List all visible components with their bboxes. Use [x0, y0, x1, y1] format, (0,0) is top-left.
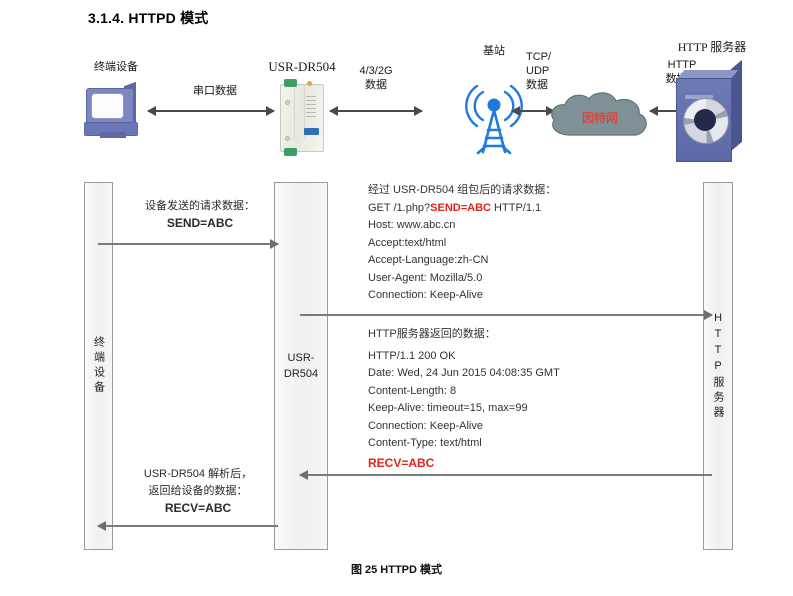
arrow-device-to-dr504: [98, 238, 278, 250]
lifeline-usr-dr504: USR- DR504: [274, 182, 328, 550]
node-label-base-station: 基站: [464, 44, 524, 58]
arrow-serial: [148, 104, 274, 118]
label-recv-abc-server: RECV=ABC: [368, 456, 434, 470]
lifeline-dr504-label: USR- DR504: [284, 350, 318, 382]
link-label-tcp-udp: TCP/ UDP 数据: [526, 50, 572, 92]
link-label-serial: 串口数据: [180, 84, 250, 98]
note-http-request: 经过 USR-DR504 组包后的请求数据： GET /1.php?SEND=A…: [368, 182, 698, 305]
lifeline-terminal-label: 终端设备: [92, 336, 104, 396]
node-label-http-server: HTTP 服务器: [664, 40, 760, 54]
arrow-server-to-dr504: [300, 469, 712, 481]
note-device-request: 设备发送的请求数据： SEND=ABC: [122, 198, 278, 232]
sequence-diagram: 终端设备 USR- DR504 HTTP服务器 设备发送的请求数据： SEND=…: [60, 180, 770, 552]
http-request-line: GET /1.php?SEND=ABC HTTP/1.1: [368, 200, 698, 218]
network-topology-diagram: 终端设备 串口数据 USR-DR504 4/3/2G: [60, 42, 770, 177]
cloud-label: 因特网: [546, 88, 654, 146]
page-root: 3.1.4. HTTPD 模式 终端设备 串口数据 USR-DR504: [0, 0, 793, 596]
arrow-dr504-to-server: [300, 309, 712, 321]
server-icon: [676, 70, 746, 162]
arrow-dr504-to-device: [98, 520, 278, 532]
cloud-icon: 因特网: [546, 88, 654, 146]
pc-icon: [86, 88, 142, 138]
node-label-usr-dr504: USR-DR504: [256, 60, 348, 74]
device-icon: [276, 78, 326, 156]
note-device-response: USR-DR504 解析后， 返回给设备的数据： RECV=ABC: [118, 466, 278, 517]
figure-caption: 图 25 HTTPD 模式: [0, 561, 793, 577]
section-heading: 3.1.4. HTTPD 模式: [88, 8, 208, 28]
arrow-cellular: [330, 104, 422, 118]
note-http-response: HTTP服务器返回的数据： HTTP/1.1 200 OK Date: Wed,…: [368, 326, 708, 453]
node-label-terminal-device: 终端设备: [84, 60, 148, 74]
lifeline-server-label: HTTP服务器: [712, 312, 724, 421]
link-label-cellular: 4/3/2G 数据: [348, 64, 404, 92]
